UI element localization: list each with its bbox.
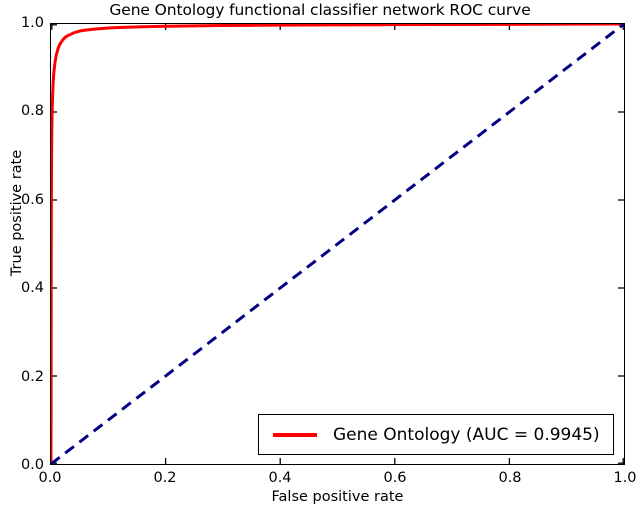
- chart-legend: Gene Ontology (AUC = 0.9945): [258, 414, 614, 455]
- x-tick-label: 0.4: [250, 470, 310, 486]
- x-tick-label: 0.0: [20, 470, 80, 486]
- x-tick-label: 0.8: [480, 470, 540, 486]
- y-tick-label: 0.8: [2, 103, 44, 119]
- x-axis-label: False positive rate: [50, 489, 625, 505]
- x-tick-label: 0.6: [365, 470, 425, 486]
- y-tick-label: 1.0: [2, 15, 44, 31]
- plot-svg: [51, 24, 624, 464]
- y-tick-label: 0.2: [2, 369, 44, 385]
- data-series: [51, 24, 624, 464]
- legend-line-swatch: [273, 433, 317, 437]
- page-title: Gene Ontology functional classifier netw…: [0, 1, 640, 19]
- x-tick-label: 1.0: [595, 470, 640, 486]
- y-axis-label: True positive rate: [9, 133, 25, 293]
- x-tick-label: 0.2: [135, 470, 195, 486]
- legend-entry-label: Gene Ontology (AUC = 0.9945): [333, 425, 600, 445]
- series-line: [51, 24, 624, 464]
- roc-curve-figure: Gene Ontology functional classifier netw…: [0, 0, 640, 509]
- plot-area: [50, 23, 625, 465]
